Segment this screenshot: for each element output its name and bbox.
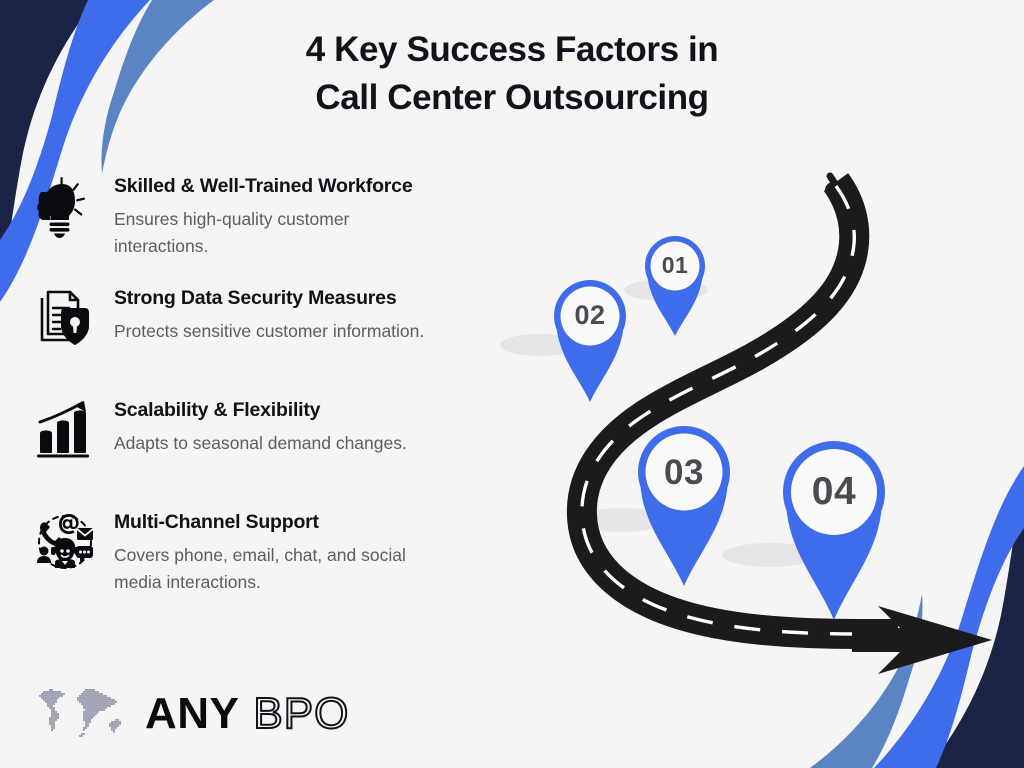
feature-item-scalability: Scalability & Flexibility Adapts to seas… [34,396,514,484]
page-title: 4 Key Success Factors in Call Center Out… [0,26,1024,122]
logo-word-bpo: BPO [253,691,349,737]
logo-wordmark: ANY BPO [145,691,349,737]
multi-channel-agent-icon [34,508,96,582]
feature-description: Ensures high-quality customer interactio… [114,206,444,260]
feature-title: Strong Data Security Measures [114,286,514,310]
infographic-canvas: 4 Key Success Factors in Call Center Out… [0,0,1024,768]
map-pin-03[interactable] [638,426,730,586]
road-arrow-icon [852,606,992,674]
map-pin-01-label: 01 [645,252,705,279]
feature-title: Skilled & Well-Trained Workforce [114,174,514,198]
title-line-2: Call Center Outsourcing [0,74,1024,122]
map-pin-02-label: 02 [555,300,625,331]
feature-list: Skilled & Well-Trained Workforce Ensures… [34,172,514,620]
roadmap-graphic: 01 02 03 04 [500,170,1024,700]
title-line-1: 4 Key Success Factors in [0,26,1024,74]
bar-chart-growth-icon [34,396,96,470]
feature-item-multichannel: Multi-Channel Support Covers phone, emai… [34,508,514,596]
feature-title: Multi-Channel Support [114,510,514,534]
feature-description: Covers phone, email, chat, and social me… [114,542,444,596]
feature-description: Protects sensitive customer information. [114,318,444,345]
map-pin-02[interactable] [554,280,626,402]
feature-item-workforce: Skilled & Well-Trained Workforce Ensures… [34,172,514,260]
feature-item-security: Strong Data Security Measures Protects s… [34,284,514,372]
dotted-world-map-icon [33,689,123,739]
map-pin-04-label: 04 [786,470,882,514]
map-pin-03-label: 03 [639,453,729,493]
map-pin-04[interactable] [783,441,885,620]
documents-shield-lock-icon [34,284,96,358]
lightbulb-brain-icon [34,172,96,246]
map-pin-01[interactable] [645,236,705,336]
curved-road-icon [500,170,1024,700]
logo-word-any: ANY [145,691,239,737]
feature-title: Scalability & Flexibility [114,398,514,422]
feature-description: Adapts to seasonal demand changes. [114,430,444,457]
brand-logo: ANY BPO [33,689,349,739]
